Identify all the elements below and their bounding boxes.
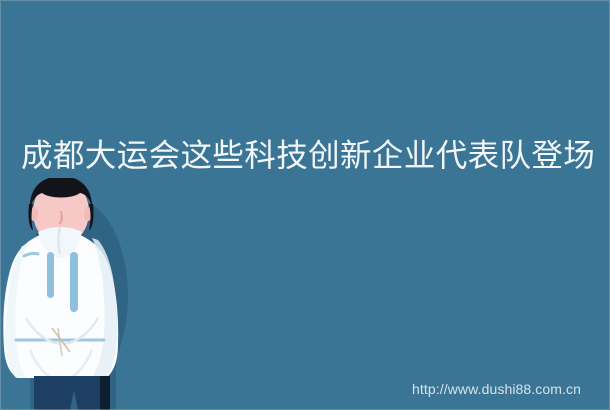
news-thumbnail-card: 成都大运会这些科技创新企业代表队登场 http://www.dushi88.co… [0, 0, 610, 410]
drawstring-left [47, 252, 54, 298]
person-illustration [0, 178, 150, 410]
drawstring-right [70, 252, 78, 312]
page-title: 成都大运会这些科技创新企业代表队登场 [21, 133, 593, 177]
source-watermark: http://www.dushi88.com.cn [412, 380, 581, 398]
